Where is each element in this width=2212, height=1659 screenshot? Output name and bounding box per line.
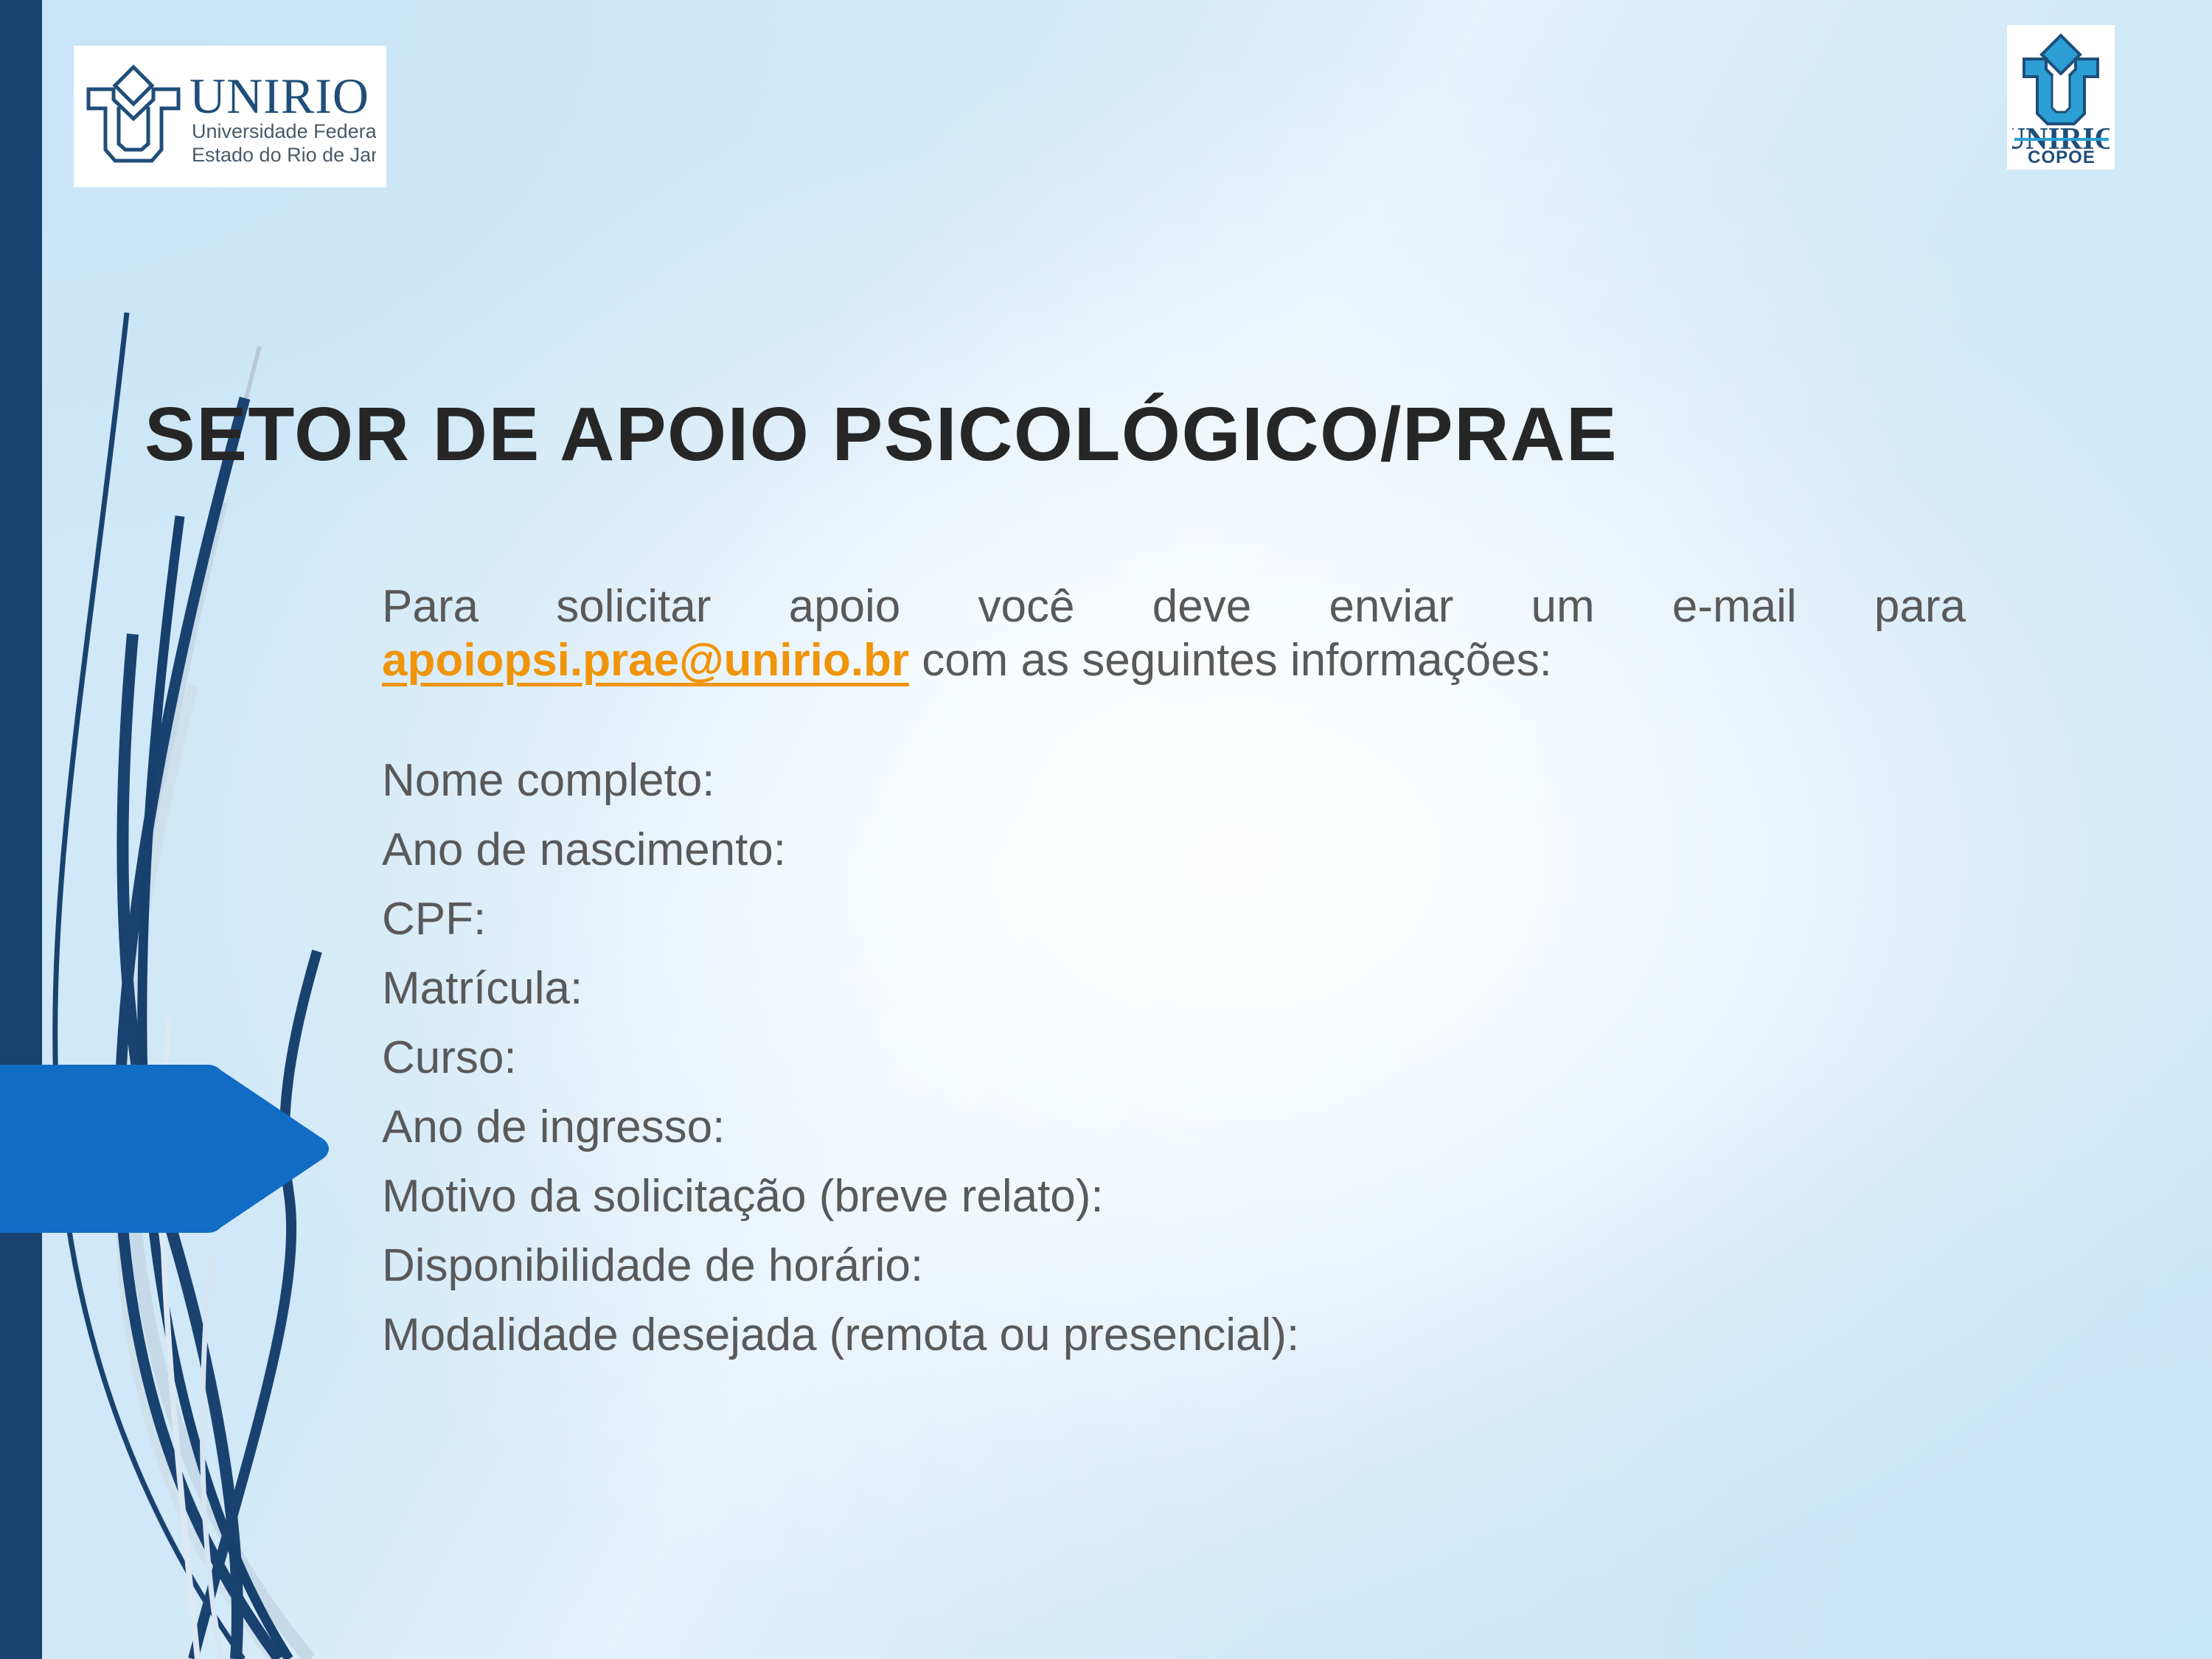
list-item: Matrícula: — [382, 966, 1966, 1012]
list-item: Disponibilidade de horário: — [382, 1243, 1966, 1289]
presentation-slide: UNIRIO Universidade Federal do Estado do… — [0, 0, 2212, 1659]
left-accent-bar — [0, 0, 42, 1659]
svg-text:Estado do Rio de Janeiro: Estado do Rio de Janeiro — [192, 144, 376, 166]
list-item: Ano de nascimento: — [382, 827, 1966, 873]
slide-title: SETOR DE APOIO PSICOLÓGICO/PRAE — [145, 394, 2091, 473]
svg-text:COPOE: COPOE — [2028, 147, 2096, 167]
slide-body: Para solicitar apoio você deve enviar um… — [382, 580, 1966, 1382]
intro-tail-text: com as seguintes informações: — [909, 635, 1552, 686]
list-item: Nome completo: — [382, 758, 1966, 804]
copoe-label: COPOE — [2013, 136, 2110, 170]
intro-paragraph: Para solicitar apoio você deve enviar um… — [382, 580, 1966, 687]
list-item: Motivo da solicitação (breve relato): — [382, 1174, 1966, 1220]
list-item: Modalidade desejada (remota ou presencia… — [382, 1312, 1966, 1358]
unirio-logo: UNIRIO Universidade Federal do Estado do… — [74, 46, 386, 187]
list-item: Ano de ingresso: — [382, 1105, 1966, 1150]
support-email-link[interactable]: apoiopsi.prae@unirio.br — [382, 635, 909, 686]
intro-lead-text: Para solicitar apoio você deve enviar um… — [382, 581, 1966, 632]
blue-arrow-shape — [0, 1060, 333, 1237]
list-item: CPF: — [382, 897, 1966, 942]
svg-text:Universidade Federal do: Universidade Federal do — [192, 120, 376, 142]
svg-text:UNIRIO: UNIRIO — [189, 68, 369, 124]
list-item: Curso: — [382, 1035, 1966, 1081]
required-fields-list: Nome completo: Ano de nascimento: CPF: M… — [382, 758, 1966, 1358]
